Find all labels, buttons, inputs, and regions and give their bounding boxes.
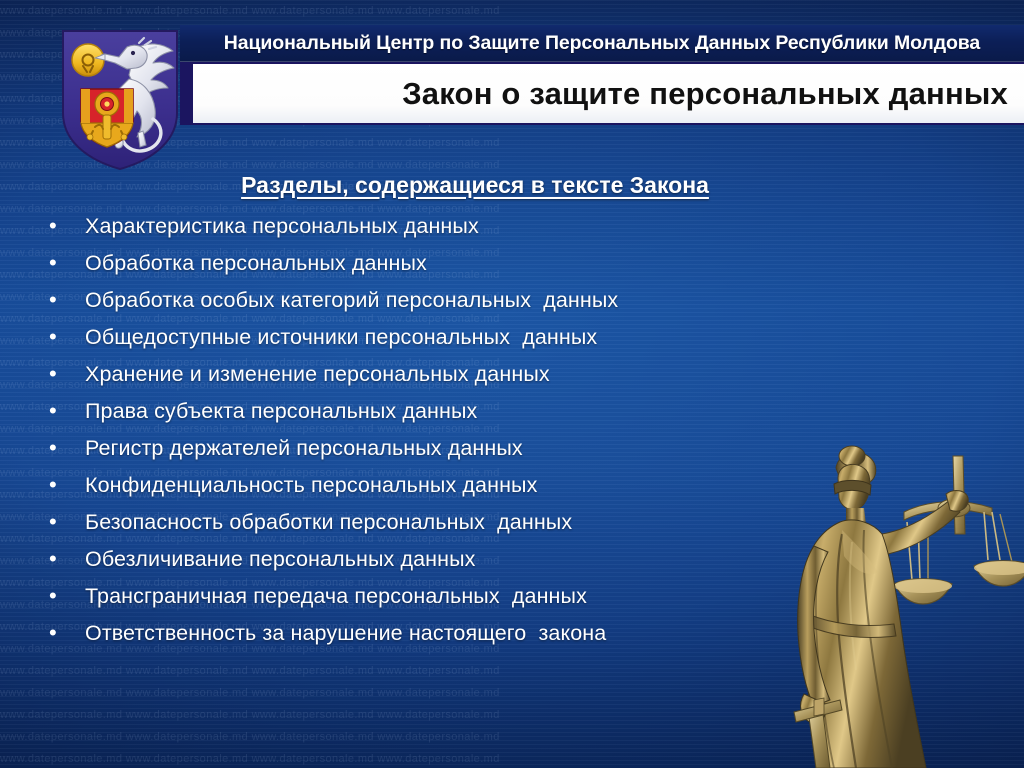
bullet-icon: • bbox=[45, 437, 85, 459]
watermark-line: www.datepersonale.md www.datepersonale.m… bbox=[0, 0, 1024, 22]
bullet-icon: • bbox=[45, 474, 85, 496]
list-item-label: Трансграничная передача персональных дан… bbox=[85, 584, 587, 609]
list-item-label: Права субъекта персональных данных bbox=[85, 399, 477, 424]
sections-bullet-list: • Характеристика персональных данных • О… bbox=[45, 214, 845, 658]
list-item-label: Хранение и изменение персональных данных bbox=[85, 362, 550, 387]
list-item: • Характеристика персональных данных bbox=[45, 214, 845, 251]
organisation-header-band: Национальный Центр по Защите Персональны… bbox=[180, 25, 1024, 62]
list-item: • Права субъекта персональных данных bbox=[45, 399, 845, 436]
watermark-line: www.datepersonale.md www.datepersonale.m… bbox=[0, 726, 1024, 748]
page-title: Закон о защите персональных данных bbox=[402, 76, 1008, 112]
list-item-label: Характеристика персональных данных bbox=[85, 214, 479, 239]
section-subtitle: Разделы, содержащиеся в тексте Закона bbox=[0, 172, 950, 199]
bullet-icon: • bbox=[45, 215, 85, 237]
presentation-slide: www.datepersonale.md www.datepersonale.m… bbox=[0, 0, 1024, 768]
list-item-label: Конфиденциальность персональных данных bbox=[85, 473, 537, 498]
list-item: • Обработка особых категорий персональны… bbox=[45, 288, 845, 325]
bullet-icon: • bbox=[45, 400, 85, 422]
bullet-icon: • bbox=[45, 252, 85, 274]
list-item: • Конфиденциальность персональных данных bbox=[45, 473, 845, 510]
list-item: • Регистр держателей персональных данных bbox=[45, 436, 845, 473]
list-item: • Безопасность обработки персональных да… bbox=[45, 510, 845, 547]
list-item-label: Безопасность обработки персональных данн… bbox=[85, 510, 572, 535]
bullet-icon: • bbox=[45, 326, 85, 348]
bullet-icon: • bbox=[45, 622, 85, 644]
list-item-label: Обработка персональных данных bbox=[85, 251, 427, 276]
list-item: • Трансграничная передача персональных д… bbox=[45, 584, 845, 621]
title-band: Закон о защите персональных данных bbox=[193, 64, 1024, 123]
bullet-icon: • bbox=[45, 511, 85, 533]
organisation-name: Национальный Центр по Защите Персональны… bbox=[224, 32, 980, 55]
watermark-line: www.datepersonale.md www.datepersonale.m… bbox=[0, 748, 1024, 768]
list-item-label: Обработка особых категорий персональных … bbox=[85, 288, 618, 313]
bullet-icon: • bbox=[45, 363, 85, 385]
list-item: • Ответственность за нарушение настоящег… bbox=[45, 621, 845, 658]
list-item: • Общедоступные источники персональных д… bbox=[45, 325, 845, 362]
bullet-icon: • bbox=[45, 585, 85, 607]
list-item-label: Обезличивание персональных данных bbox=[85, 547, 476, 572]
coat-of-arms-griffin-emblem bbox=[57, 27, 183, 172]
watermark-line: www.datepersonale.md www.datepersonale.m… bbox=[0, 704, 1024, 726]
watermark-line: www.datepersonale.md www.datepersonale.m… bbox=[0, 660, 1024, 682]
list-item: • Обезличивание персональных данных bbox=[45, 547, 845, 584]
bullet-icon: • bbox=[45, 289, 85, 311]
list-item: • Хранение и изменение персональных данн… bbox=[45, 362, 845, 399]
list-item-label: Общедоступные источники персональных дан… bbox=[85, 325, 597, 350]
list-item-label: Ответственность за нарушение настоящего … bbox=[85, 621, 606, 646]
bullet-icon: • bbox=[45, 548, 85, 570]
list-item-label: Регистр держателей персональных данных bbox=[85, 436, 523, 461]
list-item: • Обработка персональных данных bbox=[45, 251, 845, 288]
watermark-line: www.datepersonale.md www.datepersonale.m… bbox=[0, 682, 1024, 704]
